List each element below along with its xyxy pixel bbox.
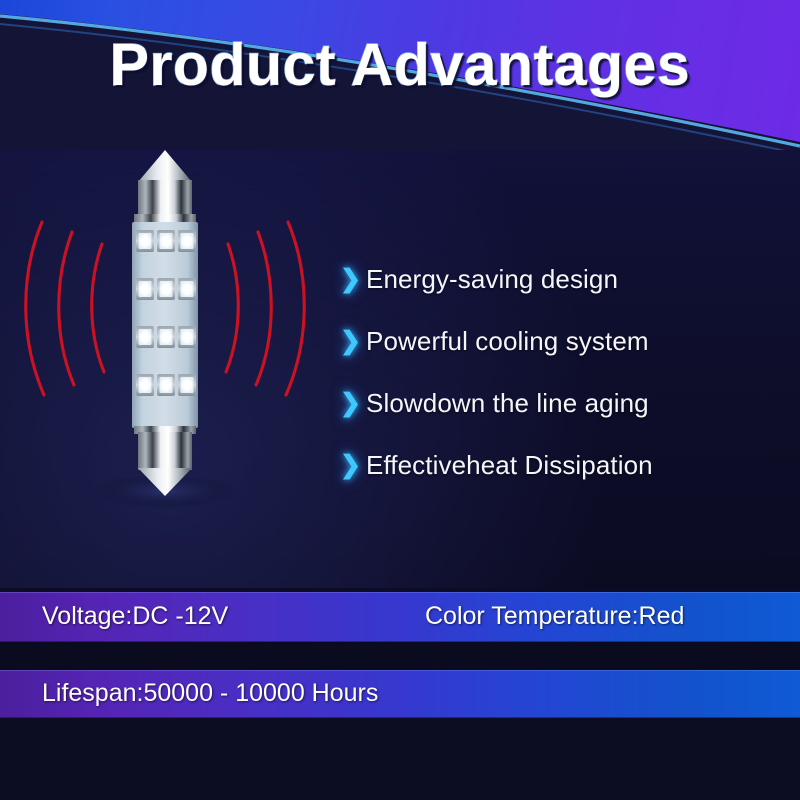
- spec-color-temperature: Color Temperature:Red: [425, 602, 684, 631]
- footer-background: [0, 718, 800, 800]
- light-rays-right-icon: [226, 222, 304, 395]
- feature-item-3: ❯ Effectiveheat Dissipation: [340, 434, 790, 496]
- bulb-pcb: [132, 222, 198, 428]
- feature-list: ❯ Energy-saving design ❯ Powerful coolin…: [340, 248, 790, 496]
- chevron-right-icon: ❯: [340, 453, 366, 478]
- product-image: [10, 140, 330, 540]
- bulb-top-cap: [134, 150, 196, 224]
- header-banner: Product Advantages: [0, 0, 800, 150]
- chevron-right-icon: ❯: [340, 391, 366, 416]
- feature-item-2: ❯ Slowdown the line aging: [340, 372, 790, 434]
- feature-label-1: Powerful cooling system: [366, 326, 649, 357]
- spec-bar-voltage-color: Voltage:DC -12V Color Temperature:Red: [0, 592, 800, 642]
- feature-label-3: Effectiveheat Dissipation: [366, 450, 653, 481]
- feature-item-0: ❯ Energy-saving design: [340, 248, 790, 310]
- spec-lifespan: Lifespan:50000 - 10000 Hours: [42, 679, 378, 708]
- spec-gap-background: [0, 642, 800, 670]
- spec-bar-lifespan: Lifespan:50000 - 10000 Hours: [0, 670, 800, 718]
- product-advantages-banner: Product Advantages: [0, 0, 800, 800]
- chevron-right-icon: ❯: [340, 267, 366, 292]
- feature-label-2: Slowdown the line aging: [366, 388, 649, 419]
- spec-voltage: Voltage:DC -12V: [42, 602, 228, 631]
- light-rays-left-icon: [26, 222, 104, 395]
- page-title: Product Advantages: [0, 31, 800, 99]
- feature-label-0: Energy-saving design: [366, 264, 618, 295]
- feature-item-1: ❯ Powerful cooling system: [340, 310, 790, 372]
- chevron-right-icon: ❯: [340, 329, 366, 354]
